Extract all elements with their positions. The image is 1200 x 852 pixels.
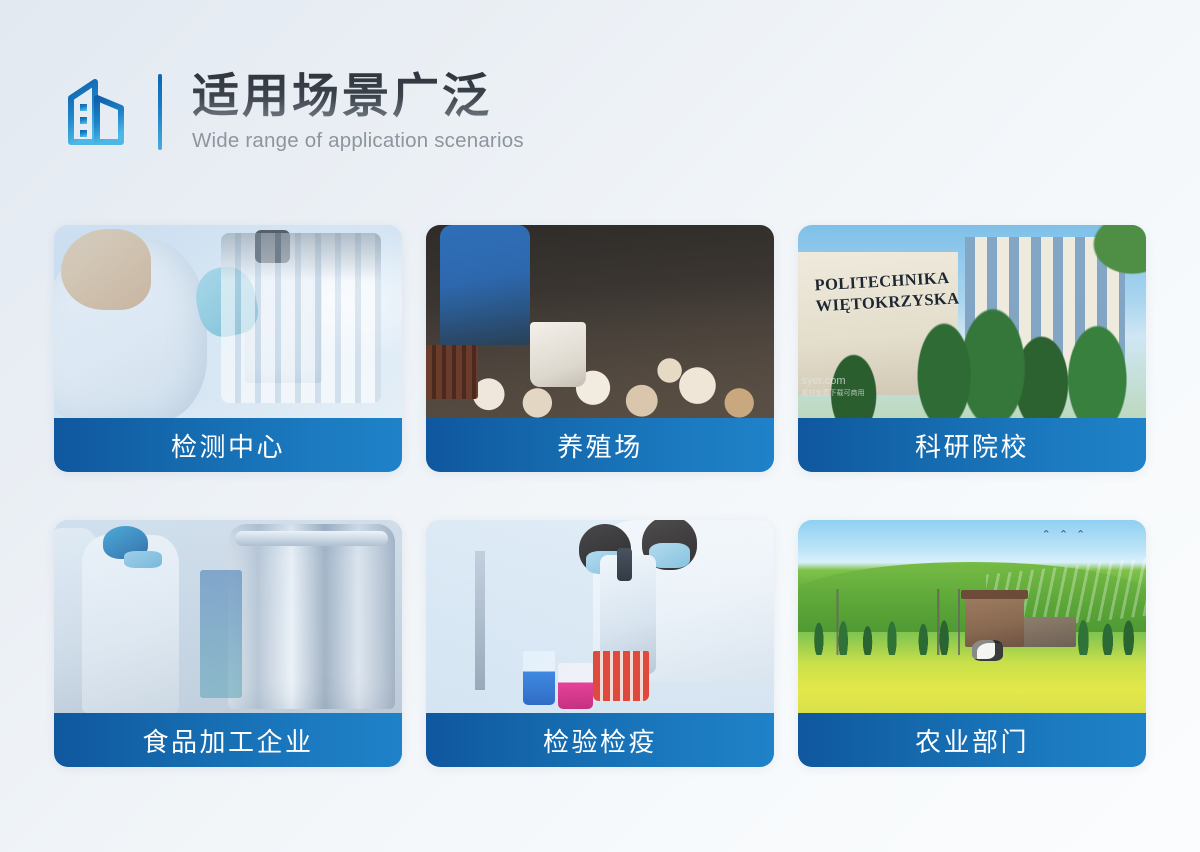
application-scenarios-page: 适用场景广泛 Wide range of application scenari… [0, 0, 1200, 852]
header-text-block: 适用场景广泛 Wide range of application scenari… [192, 70, 524, 154]
card-photo-testing-center [54, 225, 402, 418]
card-photo-inspection-quarantine [426, 520, 774, 713]
watermark-line2: 素材免费下载可商用 [801, 389, 864, 398]
watermark-line1: syer.com [801, 375, 845, 387]
equipment-panel-shape [200, 570, 242, 697]
page-subtitle: Wide range of application scenarios [192, 129, 524, 154]
card-photo-research-institute: POLITECHNIKA WIĘTOKRZYSKA syer.com 素材免费下… [798, 225, 1146, 418]
card-caption-breeding-farm: 养殖场 [426, 418, 774, 472]
beaker-blue-shape [523, 651, 554, 705]
section-header: 适用场景广泛 Wide range of application scenari… [62, 62, 524, 162]
crate-shape [426, 345, 478, 399]
test-tube-rack-shape [593, 651, 649, 701]
beaker-pink-shape [558, 663, 593, 709]
card-caption-food-processing: 食品加工企业 [54, 713, 402, 767]
photo-watermark: syer.com 素材免费下载可商用 [801, 374, 864, 398]
gloved-hand-shape [190, 262, 262, 342]
card-caption-inspection-quarantine: 检验检疫 [426, 713, 774, 767]
scenario-card-research-institute[interactable]: POLITECHNIKA WIĘTOKRZYSKA syer.com 素材免费下… [798, 225, 1146, 472]
face-mask-shape [124, 551, 162, 568]
scenario-card-food-processing[interactable]: 食品加工企业 [54, 520, 402, 767]
food-plant-illustration [54, 520, 402, 713]
card-photo-agriculture-department: ⌃⌃⌃ [798, 520, 1146, 713]
scenario-card-grid: 检测中心 养殖场 POLITECHNIKA WIĘT [54, 225, 1146, 767]
scenario-card-agriculture-department[interactable]: ⌃⌃⌃ 农业部门 [798, 520, 1146, 767]
page-title: 适用场景广泛 [192, 70, 524, 125]
poultry-farm-illustration [426, 225, 774, 418]
bird-shapes: ⌃⌃⌃ [1042, 528, 1132, 559]
card-caption-research-institute: 科研院校 [798, 418, 1146, 472]
stainless-tank-shape [228, 524, 395, 709]
farmland-illustration: ⌃⌃⌃ [798, 520, 1146, 713]
card-caption-agriculture-department: 农业部门 [798, 713, 1146, 767]
cow-shape [972, 640, 1003, 661]
header-accent-bar [158, 74, 162, 150]
office-building-icon [62, 74, 134, 150]
scenario-card-breeding-farm[interactable]: 养殖场 [426, 225, 774, 472]
bucket-shape [530, 322, 586, 388]
microscope-shape [245, 233, 322, 384]
lab-stand-shape [475, 551, 485, 690]
lab-microscope-illustration [54, 225, 402, 418]
card-photo-breeding-farm [426, 225, 774, 418]
scenario-card-testing-center[interactable]: 检测中心 [54, 225, 402, 472]
card-caption-testing-center: 检测中心 [54, 418, 402, 472]
inspection-lab-illustration [426, 520, 774, 713]
scenario-card-inspection-quarantine[interactable]: 检验检疫 [426, 520, 774, 767]
researcher-hair-shape [61, 229, 151, 310]
card-photo-food-processing [54, 520, 402, 713]
university-building-illustration: POLITECHNIKA WIĘTOKRZYSKA syer.com 素材免费下… [798, 225, 1146, 418]
